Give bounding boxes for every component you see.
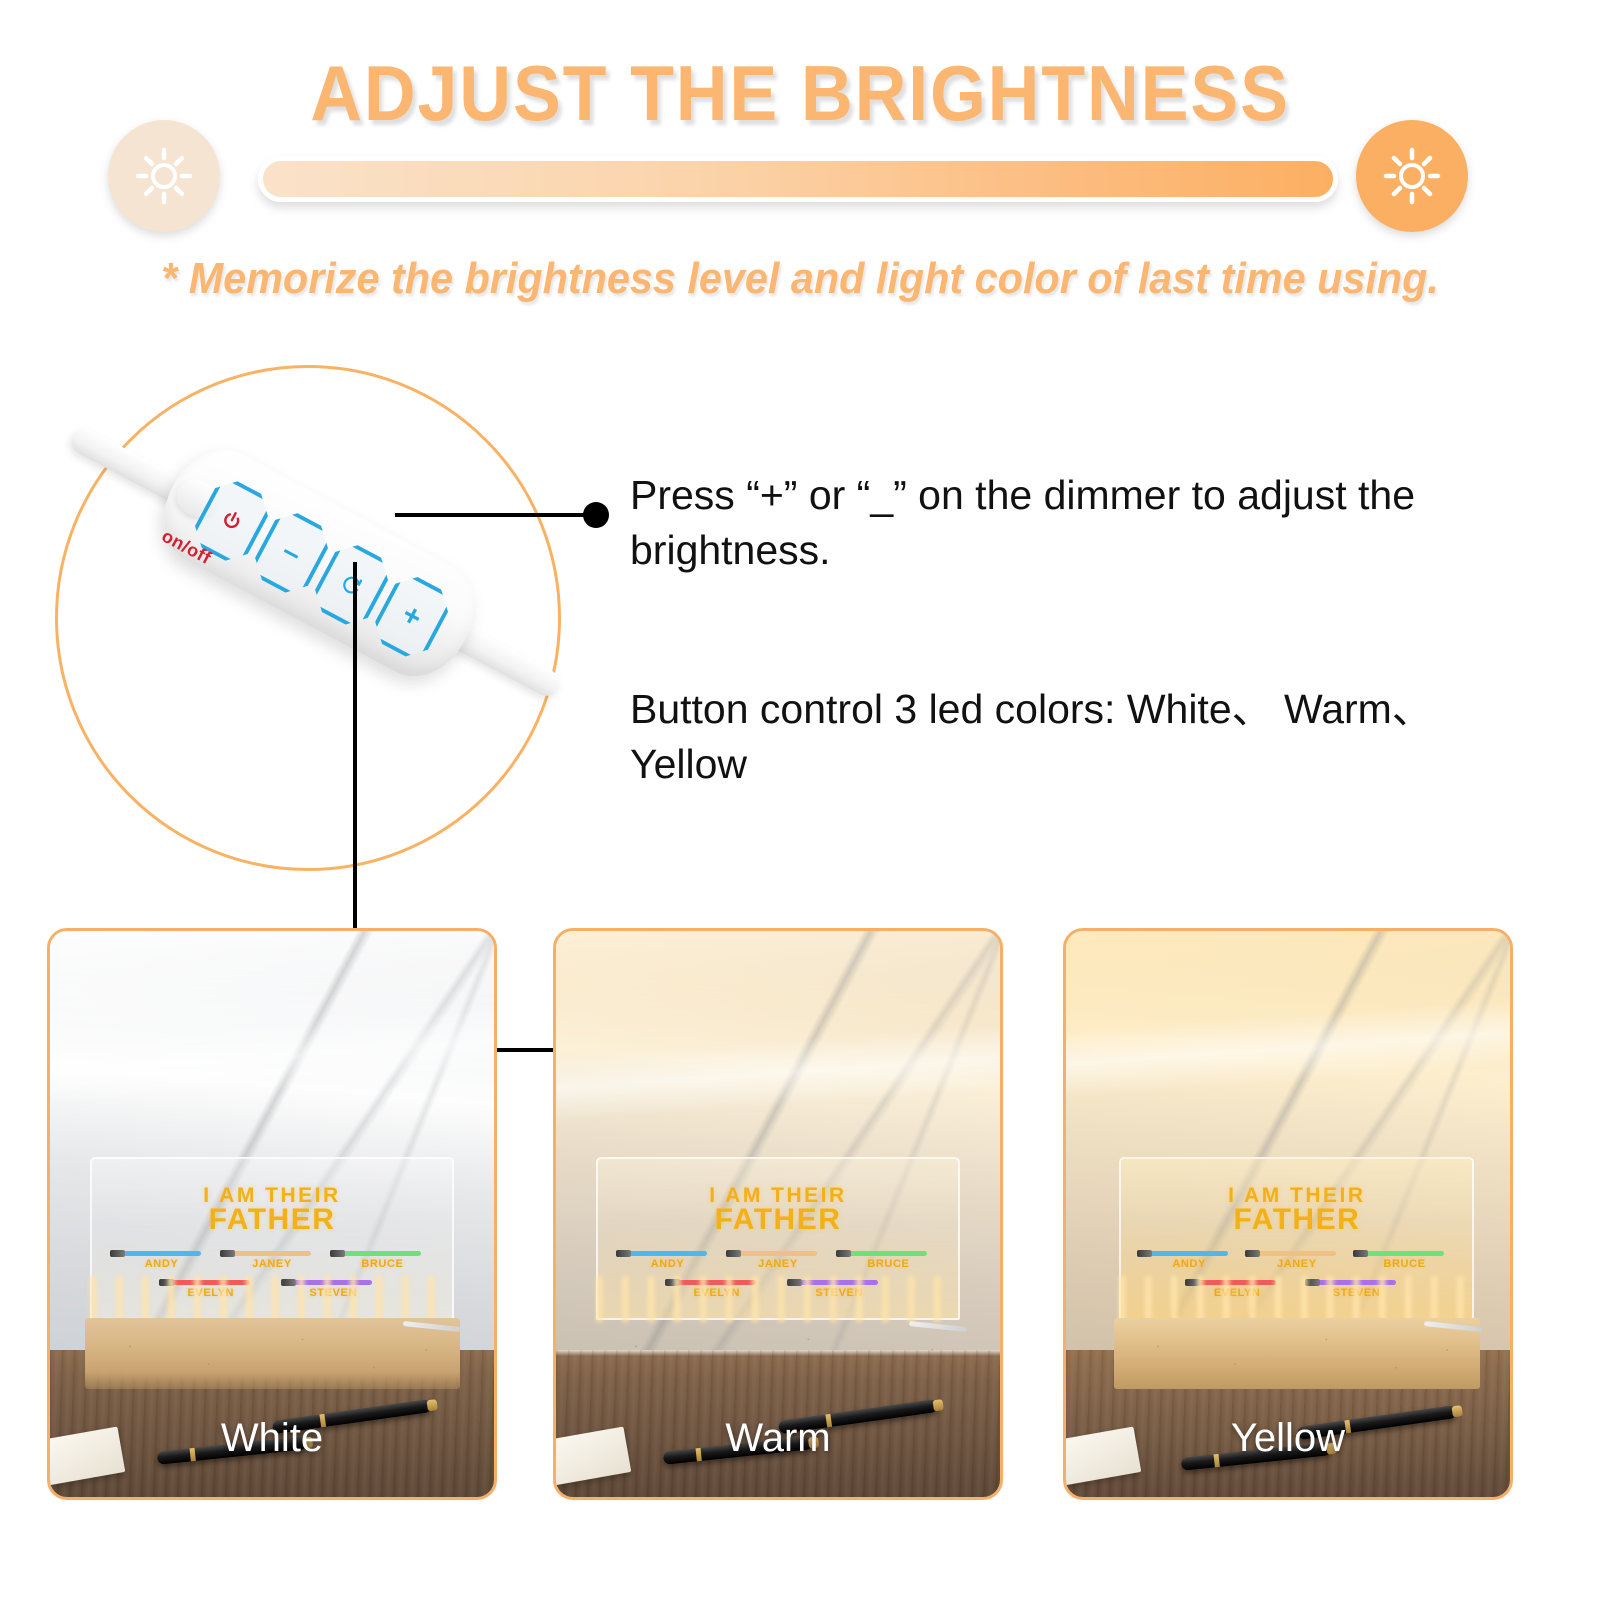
night-lamp: I AM THEIR FATHER ANDY JANEY BRUCE	[90, 1157, 454, 1389]
wooden-base	[591, 1318, 966, 1390]
saber-bruce: BRUCE	[843, 1251, 933, 1270]
sun-dim-icon	[108, 120, 220, 232]
wood-speckle	[1114, 1318, 1480, 1390]
saber-janey: JANEY	[1252, 1251, 1342, 1270]
plaque-line2: FATHER	[92, 1206, 452, 1235]
panel-yellow[interactable]: I AM THEIR FATHER ANDY JANEY BRUCE	[1063, 928, 1513, 1500]
dimmer-body: – + on/off	[145, 433, 493, 694]
plaque-text: I AM THEIR FATHER	[1121, 1186, 1472, 1234]
callout-colors-text: Button control 3 led colors: White、 Warm…	[630, 682, 1510, 791]
panel-white[interactable]: I AM THEIR FATHER ANDY JANEY BRUCE	[47, 928, 497, 1500]
callout-dot-brightness	[583, 502, 609, 528]
led-glow	[596, 1276, 960, 1322]
saber-name: JANEY	[758, 1258, 798, 1270]
saber-andy: ANDY	[117, 1251, 207, 1270]
wooden-base	[85, 1318, 460, 1390]
saber-bruce: BRUCE	[337, 1251, 427, 1270]
wood-speckle	[85, 1318, 460, 1390]
night-lamp: I AM THEIR FATHER ANDY JANEY BRUCE	[596, 1157, 960, 1389]
panel-label-white: White	[50, 1416, 494, 1461]
wood-speckle	[591, 1318, 966, 1390]
callout-brightness-text: Press “+” or “_” on the dimmer to adjust…	[630, 468, 1510, 577]
saber-andy: ANDY	[623, 1251, 713, 1270]
saber-name: JANEY	[1277, 1258, 1317, 1270]
saber-row-1: ANDY JANEY BRUCE	[1135, 1251, 1458, 1270]
led-glow	[1119, 1276, 1474, 1322]
saber-row-1: ANDY JANEY BRUCE	[612, 1251, 943, 1270]
header-section: ADJUST THE BRIGHTNESS	[0, 0, 1600, 320]
panel-label-yellow: Yellow	[1066, 1416, 1510, 1461]
wooden-base	[1114, 1318, 1480, 1390]
plaque-line2: FATHER	[1121, 1206, 1472, 1235]
saber-janey: JANEY	[227, 1251, 317, 1270]
dimmer-photo-circle: – + on/off	[55, 365, 561, 871]
callout-line-brightness	[395, 513, 600, 517]
saber-andy: ANDY	[1144, 1251, 1234, 1270]
plaque-text: I AM THEIR FATHER	[598, 1186, 958, 1234]
plaque-line2: FATHER	[598, 1206, 958, 1235]
saber-name: ANDY	[651, 1258, 685, 1270]
saber-name: BRUCE	[867, 1258, 909, 1270]
dimmer-section: – + on/off Press “+” or “_” on the dimme…	[0, 330, 1600, 920]
saber-name: JANEY	[252, 1258, 292, 1270]
night-lamp: I AM THEIR FATHER ANDY JANEY BRUCE	[1119, 1157, 1474, 1389]
memorize-note: * Memorize the brightness level and ligh…	[48, 254, 1552, 304]
saber-row-1: ANDY JANEY BRUCE	[106, 1251, 437, 1270]
led-color-panels: I AM THEIR FATHER ANDY JANEY BRUCE	[0, 928, 1600, 1510]
sun-bright-icon	[1356, 120, 1468, 232]
inline-dimmer-device: – + on/off	[145, 433, 493, 694]
led-glow	[90, 1276, 454, 1322]
saber-bruce: BRUCE	[1360, 1251, 1450, 1270]
panel-label-warm: Warm	[556, 1416, 1000, 1461]
saber-name: BRUCE	[1383, 1258, 1425, 1270]
saber-name: ANDY	[145, 1258, 179, 1270]
saber-name: BRUCE	[361, 1258, 403, 1270]
panel-warm[interactable]: I AM THEIR FATHER ANDY JANEY BRUCE	[553, 928, 1003, 1500]
saber-janey: JANEY	[733, 1251, 823, 1270]
brightness-slider[interactable]	[258, 156, 1338, 202]
plaque-text: I AM THEIR FATHER	[92, 1186, 452, 1234]
page-title: ADJUST THE BRIGHTNESS	[64, 48, 1536, 139]
saber-name: ANDY	[1172, 1258, 1206, 1270]
